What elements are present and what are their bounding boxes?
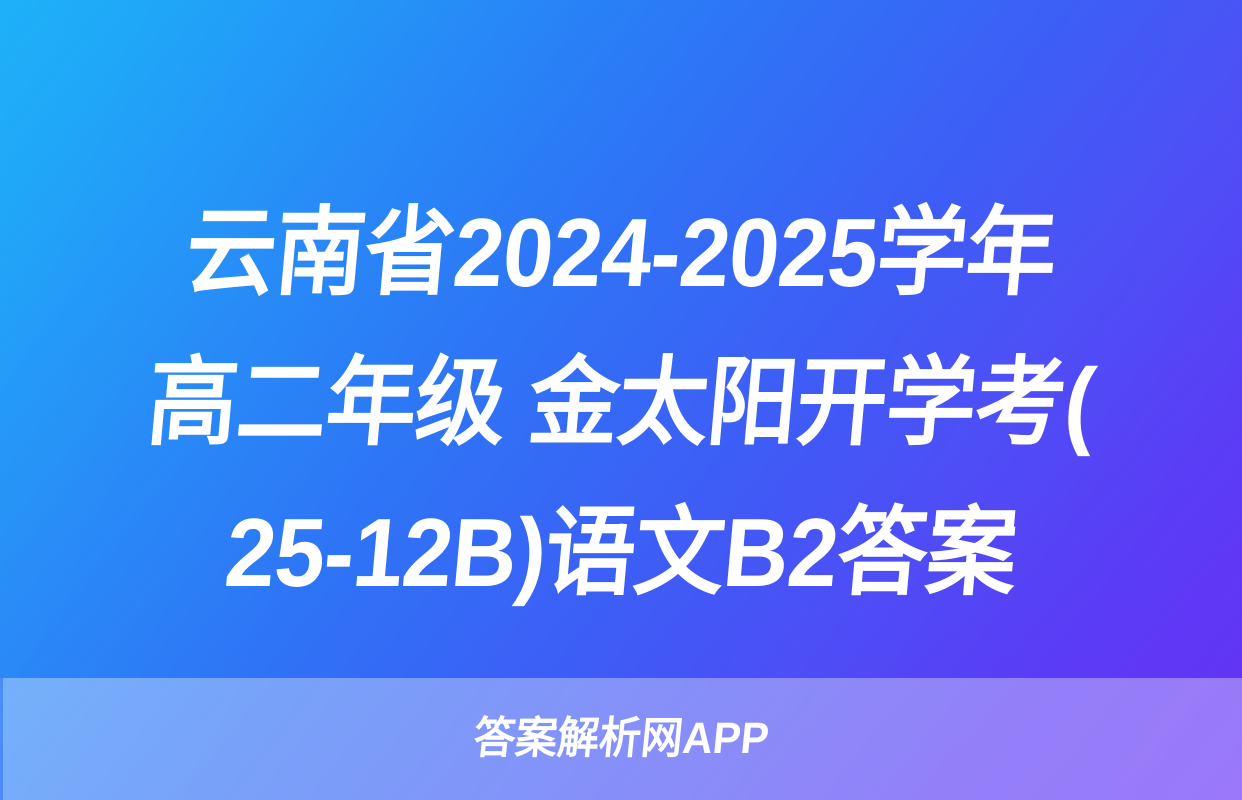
title-line-3: 25-12B)语文B2答案 xyxy=(91,478,1152,628)
title-line-1: 云南省2024-2025学年 xyxy=(91,178,1152,328)
watermark-label: 答案解析网APP xyxy=(471,717,770,761)
watermark-band: 答案解析网APP xyxy=(0,678,1242,800)
poster-canvas: 云南省2024-2025学年 高二年级 金太阳开学考( 25-12B)语文B2答… xyxy=(0,0,1242,800)
title-line-2: 高二年级 金太阳开学考( xyxy=(91,328,1152,478)
page-title: 云南省2024-2025学年 高二年级 金太阳开学考( 25-12B)语文B2答… xyxy=(0,178,1242,628)
